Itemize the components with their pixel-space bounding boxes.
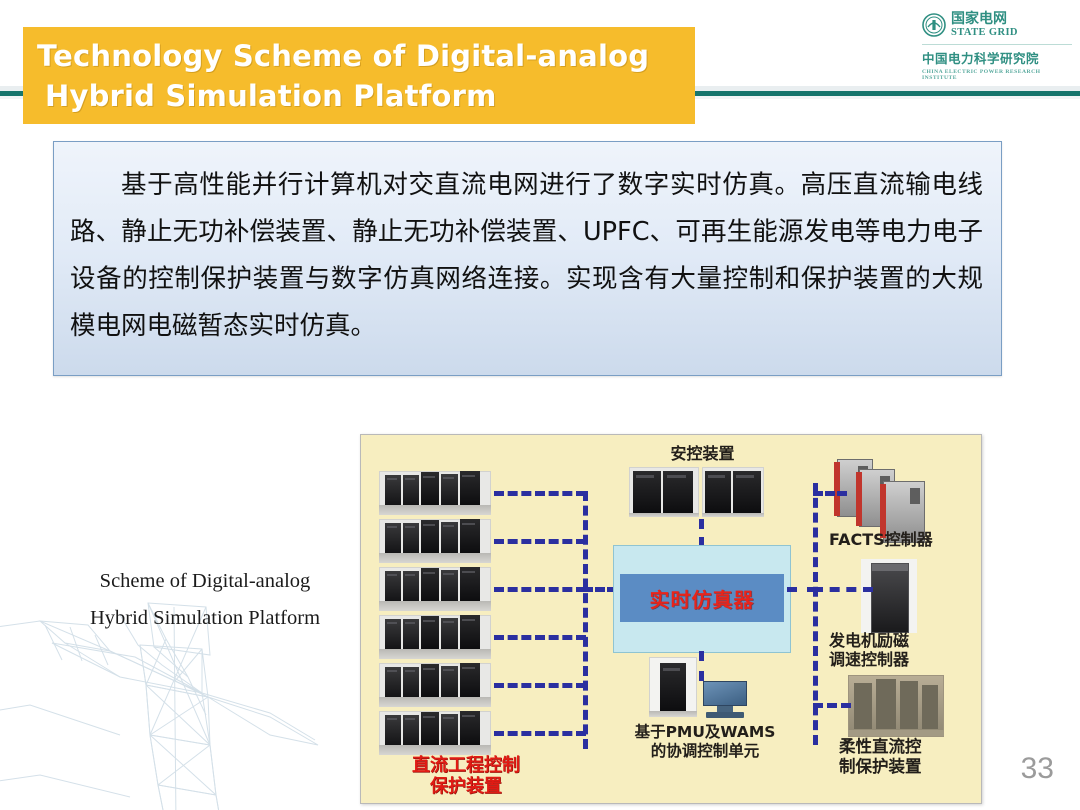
logo-institute-cn: 中国电力科学研究院	[922, 48, 1072, 67]
rack-image-6	[379, 711, 491, 755]
rack-image-3	[379, 567, 491, 611]
facts-controller-image	[837, 459, 937, 533]
architecture-diagram: 直流工程控制 保护装置 安控装置 实时仿真器	[360, 434, 982, 804]
flexible-dc-link	[813, 703, 851, 708]
pmu-cabinet-image	[649, 657, 697, 717]
right-node-2-label: 发电机励磁 调速控制器	[829, 631, 979, 669]
rack-link-4	[494, 635, 586, 640]
logo-divider	[922, 44, 1072, 45]
rack-link-2	[494, 539, 586, 544]
pmu-node-link-vertical	[699, 651, 704, 681]
top-rack-image-2	[702, 467, 764, 517]
right-node-1-label: FACTS控制器	[829, 531, 979, 548]
logo-institute-en: CHINA ELECTRIC POWER RESEARCH INSTITUTE	[922, 69, 1072, 81]
rack-link-3	[494, 587, 586, 592]
slide-title-bar: Technology Scheme of Digital-analog Hybr…	[23, 27, 695, 124]
left-node-label: 直流工程控制 保护装置	[371, 755, 561, 797]
page-number: 33	[1021, 752, 1054, 786]
bottom-center-node-label: 基于PMU及WAMS 的协调控制单元	[615, 723, 795, 761]
organization-logo: 国家电网 STATE GRID 中国电力科学研究院 CHINA ELECTRIC…	[922, 12, 1072, 82]
rack-image-2	[379, 519, 491, 563]
rack-link-5	[494, 683, 586, 688]
description-panel: 基于高性能并行计算机对交直流电网进行了数字实时仿真。高压直流输电线路、静止无功补…	[53, 141, 1002, 376]
generator-link	[813, 587, 873, 592]
figure-caption-line-1: Scheme of Digital-analog	[55, 563, 355, 600]
page-title-line-2: Hybrid Simulation Platform	[37, 76, 695, 116]
state-grid-emblem-icon	[922, 13, 946, 37]
rack-link-1	[494, 491, 586, 496]
flexible-dc-panel-image	[848, 675, 944, 737]
rack-image-1	[379, 471, 491, 515]
slide-root: Technology Scheme of Digital-analog Hybr…	[0, 0, 1080, 810]
page-title-line-1: Technology Scheme of Digital-analog	[37, 36, 695, 76]
simulator-band: 实时仿真器	[620, 574, 784, 622]
top-rack-image-1	[629, 467, 699, 517]
top-node-link	[699, 519, 704, 547]
facts-link	[813, 491, 847, 496]
simulator-label: 实时仿真器	[650, 584, 755, 613]
rack-image-4	[379, 615, 491, 659]
figure-caption-line-2: Hybrid Simulation Platform	[55, 600, 355, 637]
top-node-label: 安控装置	[615, 445, 790, 462]
description-paragraph: 基于高性能并行计算机对交直流电网进行了数字实时仿真。高压直流输电线路、静止无功补…	[70, 162, 983, 350]
left-bus-to-simulator	[583, 587, 617, 592]
rack-link-6	[494, 731, 586, 736]
rack-image-5	[379, 663, 491, 707]
logo-cn-name: 国家电网	[951, 12, 1018, 26]
figure-caption: Scheme of Digital-analog Hybrid Simulati…	[55, 563, 355, 637]
left-bus-line	[583, 491, 588, 749]
generator-excitation-image	[871, 563, 909, 633]
right-node-3-label: 柔性直流控 制保护装置	[839, 737, 989, 777]
logo-en-name: STATE GRID	[951, 28, 1018, 39]
real-time-simulator-node: 实时仿真器	[613, 545, 791, 653]
workstation-pc-image	[703, 681, 747, 719]
